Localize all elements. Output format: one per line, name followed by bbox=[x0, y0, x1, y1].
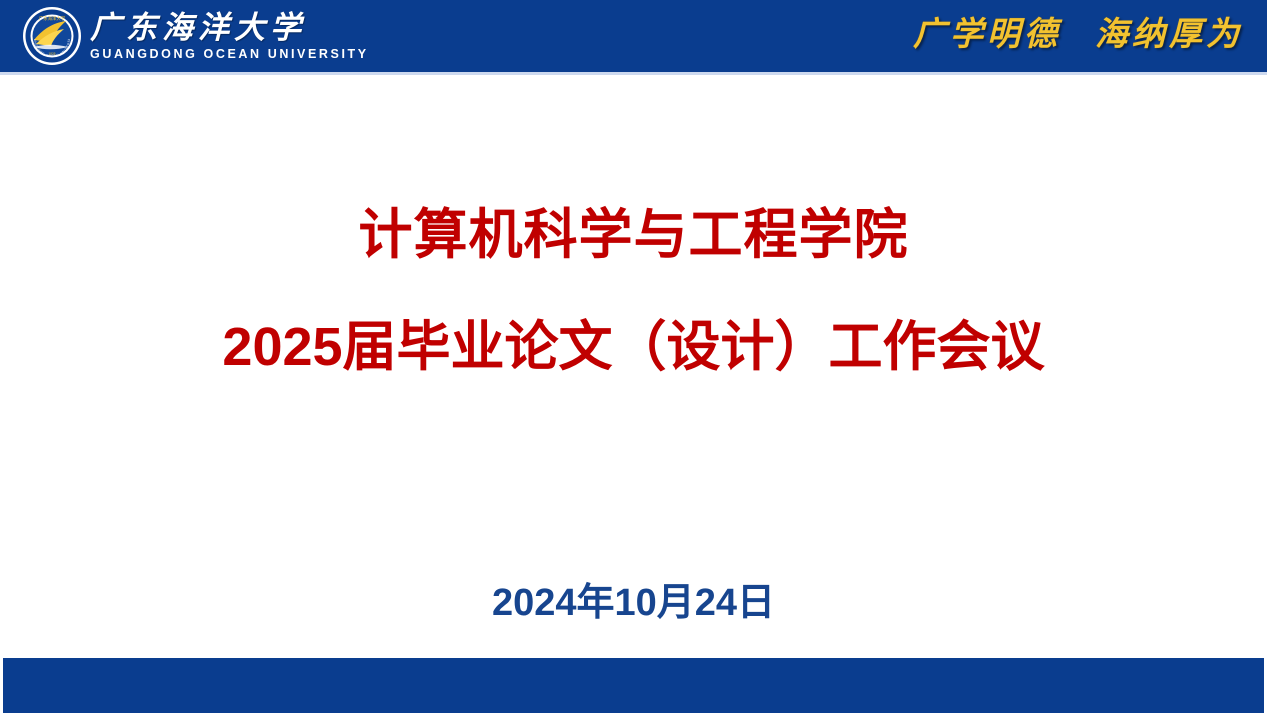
svg-text:广东海洋大学: 广东海洋大学 bbox=[39, 15, 66, 22]
slide-body: 计算机科学与工程学院 2025届毕业论文（设计）工作会议 2024年10月24日 bbox=[0, 75, 1267, 658]
presentation-slide: 广东海洋大学 1935 GUANGDONG OCEAN UNIVERSITY 广… bbox=[0, 0, 1267, 713]
slide-title-line-1: 计算机科学与工程学院 bbox=[0, 200, 1267, 270]
slide-title-block: 计算机科学与工程学院 2025届毕业论文（设计）工作会议 bbox=[0, 200, 1267, 382]
slide-date: 2024年10月24日 bbox=[0, 580, 1267, 626]
university-emblem-icon: 广东海洋大学 1935 GUANGDONG OCEAN UNIVERSITY bbox=[22, 6, 82, 66]
university-name-cn: 广东海洋大学 bbox=[90, 11, 369, 45]
university-motto: 广学明德 海纳厚为 bbox=[913, 12, 1243, 56]
university-brand: 广东海洋大学 1935 GUANGDONG OCEAN UNIVERSITY 广… bbox=[22, 3, 369, 69]
slide-footer-banner bbox=[3, 658, 1264, 713]
university-name-block: 广东海洋大学 GUANGDONG OCEAN UNIVERSITY bbox=[90, 6, 369, 66]
slide-title-line-2: 2025届毕业论文（设计）工作会议 bbox=[0, 312, 1267, 382]
motto-phrase-1: 广学明德 bbox=[913, 12, 1061, 56]
motto-phrase-2: 海纳厚为 bbox=[1095, 12, 1243, 56]
university-name-en: GUANGDONG OCEAN UNIVERSITY bbox=[90, 46, 369, 62]
slide-header-banner: 广东海洋大学 1935 GUANGDONG OCEAN UNIVERSITY 广… bbox=[0, 0, 1267, 75]
